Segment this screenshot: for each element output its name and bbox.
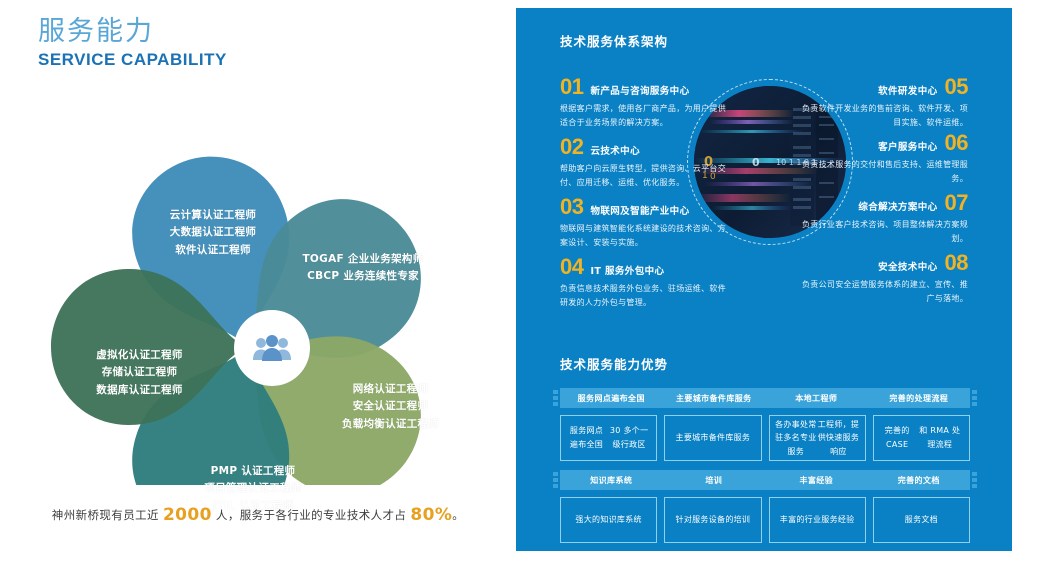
item-title: 客户服务中心 — [878, 139, 937, 153]
column-header: 服务网点遍布全国 — [560, 388, 663, 408]
item-title: IT 服务外包中心 — [590, 263, 664, 277]
left-content-panel: 服务能力 SERVICE CAPABILITY — [0, 0, 516, 576]
item-title: 新产品与咨询服务中心 — [590, 83, 689, 97]
item-description: 帮助客户向云原生转型，提供咨询、云平台交付、应用迁移、运维、优化服务。 — [560, 162, 726, 189]
item-description: 负责软件开发业务的售前咨询、软件开发、项目实施、软件运维。 — [802, 102, 968, 129]
employee-stats-caption: 神州新桥现有员工近 2000 人，服务于各行业的专业技术人才占 80%。 — [0, 505, 516, 525]
item-description: 根据客户需求，使用各厂商产品，为用户提供适合于业务场景的解决方案。 — [560, 102, 726, 129]
notch-left-decoration — [553, 390, 558, 406]
item-number: 02 — [560, 136, 583, 158]
table-cell: 服务网点遍布全国30 多个一级行政区 — [560, 415, 657, 461]
advantage-table-2-header-row: 知识库系统 培训 丰富经验 完善的文档 — [560, 470, 970, 490]
advantage-table-1-header-row: 服务网点遍布全国 主要城市备件库服务 本地工程师 完善的处理流程 — [560, 388, 970, 408]
advantage-table-2: 知识库系统 培训 丰富经验 完善的文档 强大的知识库系统 针对服务设备的培训 丰… — [560, 470, 970, 543]
item-description: 负责技术服务的交付和售后支持、运维管理服务。 — [802, 158, 968, 185]
table-cell: 完善的 CASE和 RMA 处理流程 — [873, 415, 970, 461]
service-center-item-01: 01 新产品与咨询服务中心 根据客户需求，使用各厂商产品，为用户提供适合于业务场… — [560, 76, 726, 129]
item-title: 云技术中心 — [590, 143, 640, 157]
advantage-table-1: 服务网点遍布全国 主要城市备件库服务 本地工程师 完善的处理流程 服务网点遍布全… — [560, 388, 970, 461]
caption-part-3: 。 — [452, 508, 464, 522]
column-header: 主要城市备件库服务 — [663, 388, 766, 408]
service-center-item-03: 03 物联网及智能产业中心 物联网与建筑智能化系统建设的技术咨询、方案设计、安装… — [560, 196, 726, 249]
service-system-panel: 技术服务体系架构 技术服务能力优势 — [516, 8, 1012, 551]
item-title: 物联网及智能产业中心 — [590, 203, 689, 217]
item-title: 软件研发中心 — [878, 83, 937, 97]
capability-flower-diagram: 云计算认证工程师 大数据认证工程师 软件认证工程师 TOGAF 企业业务架构师 … — [25, 85, 485, 485]
item-description: 负责公司安全运营服务体系的建立、宣传、推广与落地。 — [802, 278, 968, 305]
item-description: 负责信息技术服务外包业务、驻场运维、软件研发的人力外包与管理。 — [560, 282, 726, 309]
people-group-icon — [241, 317, 303, 379]
table-cell: 主要城市备件库服务 — [664, 415, 761, 461]
section-heading-advantage: 技术服务能力优势 — [560, 354, 668, 373]
service-center-item-02: 02 云技术中心 帮助客户向云原生转型，提供咨询、云平台交付、应用迁移、运维、优… — [560, 136, 726, 189]
page-title-cn: 服务能力 — [38, 16, 227, 47]
table-cell: 各办事处常驻多名专业服务工程师，提供快速服务响应 — [769, 415, 866, 461]
item-number: 08 — [945, 252, 968, 274]
caption-highlight-percent: 80% — [410, 505, 452, 525]
column-header: 完善的处理流程 — [868, 388, 971, 408]
section-heading-architecture: 技术服务体系架构 — [560, 31, 668, 50]
column-header: 知识库系统 — [560, 470, 663, 490]
caption-part-2: 人，服务于各行业的专业技术人才占 — [212, 508, 411, 522]
item-number: 03 — [560, 196, 583, 218]
service-center-item-06: 客户服务中心 06 负责技术服务的交付和售后支持、运维管理服务。 — [802, 132, 968, 185]
item-number: 06 — [945, 132, 968, 154]
column-header: 丰富经验 — [765, 470, 868, 490]
table-cell: 针对服务设备的培训 — [664, 497, 761, 543]
page-title-block: 服务能力 SERVICE CAPABILITY — [38, 16, 227, 70]
service-center-item-07: 综合解决方案中心 07 负责行业客户技术咨询、项目整体解决方案规划。 — [802, 192, 968, 245]
item-description: 物联网与建筑智能化系统建设的技术咨询、方案设计、安装与实施。 — [560, 222, 726, 249]
page-title-en: SERVICE CAPABILITY — [38, 50, 227, 70]
column-header: 本地工程师 — [765, 388, 868, 408]
item-number: 01 — [560, 76, 583, 98]
service-center-item-08: 安全技术中心 08 负责公司安全运营服务体系的建立、宣传、推广与落地。 — [802, 252, 968, 305]
table-cell: 强大的知识库系统 — [560, 497, 657, 543]
item-number: 05 — [945, 76, 968, 98]
advantage-table-1-body-row: 服务网点遍布全国30 多个一级行政区 主要城市备件库服务 各办事处常驻多名专业服… — [560, 415, 970, 461]
caption-part-1: 神州新桥现有员工近 — [52, 508, 163, 522]
svg-text:0: 0 — [752, 156, 760, 169]
table-cell: 丰富的行业服务经验 — [769, 497, 866, 543]
item-title: 安全技术中心 — [878, 259, 937, 273]
service-center-item-05: 软件研发中心 05 负责软件开发业务的售前咨询、软件开发、项目实施、软件运维。 — [802, 76, 968, 129]
item-number: 07 — [945, 192, 968, 214]
notch-right-decoration — [972, 472, 977, 488]
notch-left-decoration — [553, 472, 558, 488]
notch-right-decoration — [972, 390, 977, 406]
column-header: 培训 — [663, 470, 766, 490]
item-number: 04 — [560, 256, 583, 278]
item-title: 综合解决方案中心 — [858, 199, 937, 213]
item-description: 负责行业客户技术咨询、项目整体解决方案规划。 — [802, 218, 968, 245]
column-header: 完善的文档 — [868, 470, 971, 490]
table-cell: 服务文档 — [873, 497, 970, 543]
service-center-item-04: 04 IT 服务外包中心 负责信息技术服务外包业务、驻场运维、软件研发的人力外包… — [560, 256, 726, 309]
advantage-table-2-body-row: 强大的知识库系统 针对服务设备的培训 丰富的行业服务经验 服务文档 — [560, 497, 970, 543]
caption-highlight-headcount: 2000 — [163, 505, 212, 525]
